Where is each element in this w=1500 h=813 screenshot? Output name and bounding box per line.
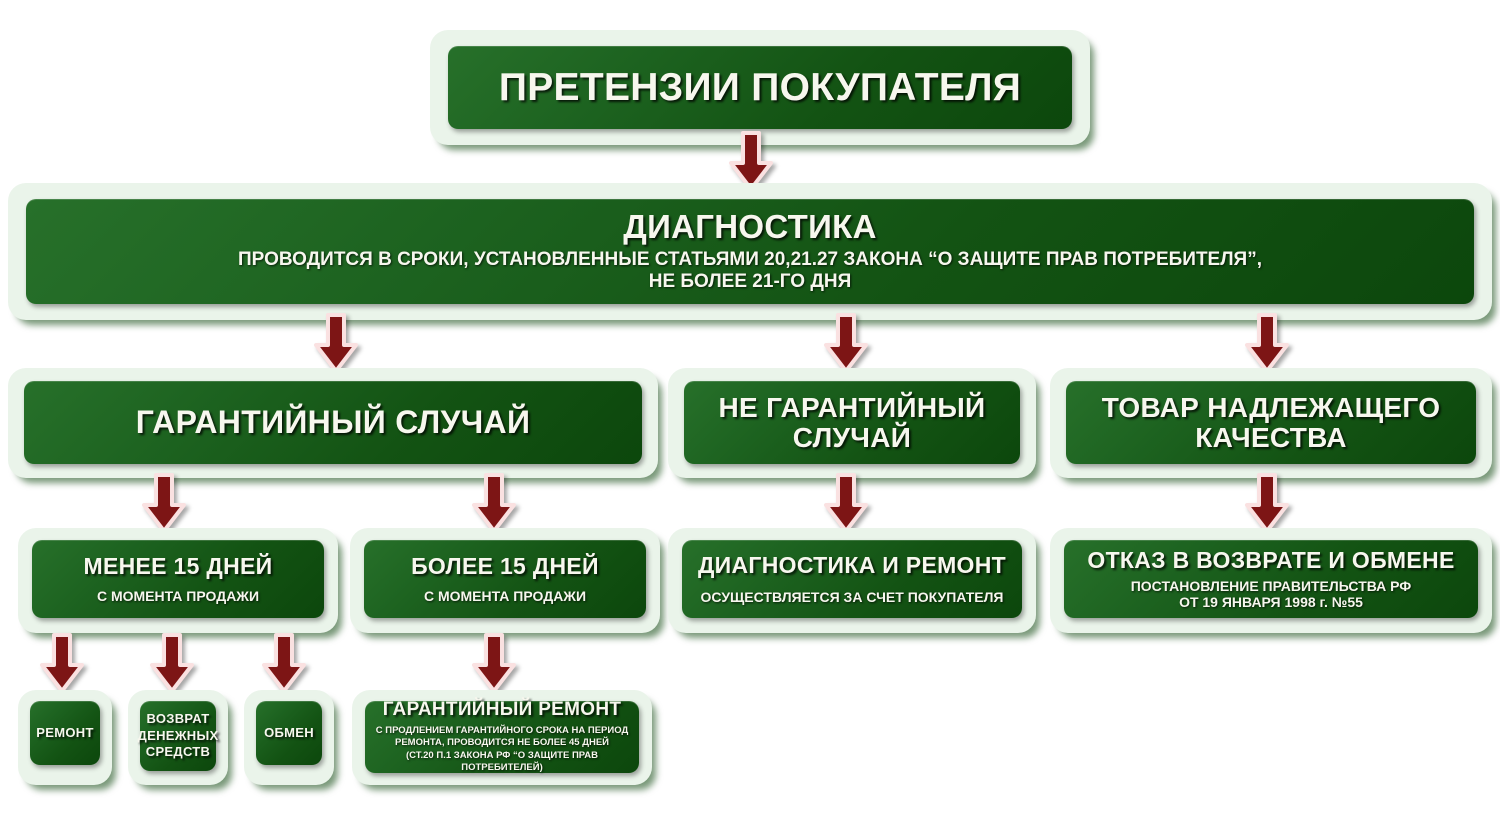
node-repair-title: РЕМОНТ	[36, 726, 93, 740]
node-proper-quality-title: ТОВАР НАДЛЕЖАЩЕГО КАЧЕСТВА	[1102, 393, 1441, 452]
more-15-days-card: БОЛЕЕ 15 ДНЕЙ С МОМЕНТА ПРОДАЖИ	[350, 528, 660, 633]
node-no-warranty-case[interactable]: НЕ ГАРАНТИЙНЫЙ СЛУЧАЙ	[684, 381, 1020, 464]
node-exchange[interactable]: ОБМЕН	[256, 701, 322, 765]
node-warranty-repair-title: ГАРАНТИЙНЫЙ РЕМОНТ	[383, 700, 622, 720]
exchange-card: ОБМЕН	[244, 690, 334, 785]
node-warranty-case[interactable]: ГАРАНТИЙНЫЙ СЛУЧАЙ	[24, 381, 642, 464]
arrow-warranty-case-to-less-15-days	[140, 473, 188, 535]
arrow-less-15-days-to-refund	[148, 633, 196, 695]
arrow-proper-quality-to-refusal	[1243, 473, 1291, 535]
refusal-card: ОТКАЗ В ВОЗВРАТЕ И ОБМЕНЕ ПОСТАНОВЛЕНИЕ …	[1050, 528, 1492, 633]
warranty-repair-card: ГАРАНТИЙНЫЙ РЕМОНТ С ПРОДЛЕНИЕМ ГАРАНТИЙ…	[352, 690, 652, 785]
node-diag-and-repair-title: ДИАГНОСТИКА И РЕМОНТ	[698, 553, 1006, 577]
node-diagnostics[interactable]: ДИАГНОСТИКА ПРОВОДИТСЯ В СРОКИ, УСТАНОВЛ…	[26, 199, 1474, 304]
proper-quality-card: ТОВАР НАДЛЕЖАЩЕГО КАЧЕСТВА	[1050, 368, 1492, 478]
arrow-less-15-days-to-exchange	[260, 633, 308, 695]
node-diag-and-repair-sub: ОСУЩЕСТВЛЯЕТСЯ ЗА СЧЕТ ПОКУПАТЕЛЯ	[701, 589, 1004, 605]
node-claim-title: ПРЕТЕНЗИИ ПОКУПАТЕЛЯ	[499, 67, 1021, 108]
node-exchange-title: ОБМЕН	[264, 726, 314, 740]
claim-card: ПРЕТЕНЗИИ ПОКУПАТЕЛЯ	[430, 30, 1090, 145]
node-proper-quality[interactable]: ТОВАР НАДЛЕЖАЩЕГО КАЧЕСТВА	[1066, 381, 1476, 464]
node-diag-and-repair[interactable]: ДИАГНОСТИКА И РЕМОНТ ОСУЩЕСТВЛЯЕТСЯ ЗА С…	[682, 540, 1022, 618]
less-15-days-card: МЕНЕЕ 15 ДНЕЙ С МОМЕНТА ПРОДАЖИ	[18, 528, 338, 633]
node-less-15-days-sub: С МОМЕНТА ПРОДАЖИ	[97, 588, 259, 604]
node-warranty-repair-sub: С ПРОДЛЕНИЕМ ГАРАНТИЙНОГО СРОКА НА ПЕРИО…	[375, 725, 629, 774]
node-refusal-sub: ПОСТАНОВЛЕНИЕ ПРАВИТЕЛЬСТВА РФ ОТ 19 ЯНВ…	[1131, 578, 1412, 610]
node-repair[interactable]: РЕМОНТ	[30, 701, 100, 765]
arrow-less-15-days-to-repair	[38, 633, 86, 695]
node-refund[interactable]: ВОЗВРАТ ДЕНЕЖНЫХ СРЕДСТВ	[140, 701, 216, 771]
diag-and-repair-card: ДИАГНОСТИКА И РЕМОНТ ОСУЩЕСТВЛЯЕТСЯ ЗА С…	[668, 528, 1036, 633]
arrow-more-15-days-to-warranty-repair	[470, 633, 518, 695]
node-warranty-repair[interactable]: ГАРАНТИЙНЫЙ РЕМОНТ С ПРОДЛЕНИЕМ ГАРАНТИЙ…	[365, 701, 639, 773]
arrow-diagnostics-to-warranty-case	[312, 313, 360, 375]
node-refusal-title: ОТКАЗ В ВОЗВРАТЕ И ОБМЕНЕ	[1087, 548, 1454, 572]
node-more-15-days[interactable]: БОЛЕЕ 15 ДНЕЙ С МОМЕНТА ПРОДАЖИ	[364, 540, 646, 618]
node-less-15-days[interactable]: МЕНЕЕ 15 ДНЕЙ С МОМЕНТА ПРОДАЖИ	[32, 540, 324, 618]
no-warranty-case-card: НЕ ГАРАНТИЙНЫЙ СЛУЧАЙ	[668, 368, 1036, 478]
arrow-warranty-case-to-more-15-days	[470, 473, 518, 535]
node-less-15-days-title: МЕНЕЕ 15 ДНЕЙ	[84, 554, 273, 578]
node-more-15-days-sub: С МОМЕНТА ПРОДАЖИ	[424, 588, 586, 604]
arrow-diagnostics-to-no-warranty-case	[822, 313, 870, 375]
repair-card: РЕМОНТ	[18, 690, 112, 785]
node-no-warranty-case-title: НЕ ГАРАНТИЙНЫЙ СЛУЧАЙ	[719, 393, 986, 452]
node-diagnostics-sub: ПРОВОДИТСЯ В СРОКИ, УСТАНОВЛЕННЫЕ СТАТЬЯ…	[238, 249, 1262, 293]
refund-card: ВОЗВРАТ ДЕНЕЖНЫХ СРЕДСТВ	[128, 690, 228, 785]
warranty-case-card: ГАРАНТИЙНЫЙ СЛУЧАЙ	[8, 368, 658, 478]
diagnostics-card: ДИАГНОСТИКА ПРОВОДИТСЯ В СРОКИ, УСТАНОВЛ…	[8, 183, 1492, 320]
node-more-15-days-title: БОЛЕЕ 15 ДНЕЙ	[411, 554, 599, 578]
node-refund-title: ВОЗВРАТ ДЕНЕЖНЫХ СРЕДСТВ	[138, 711, 219, 762]
node-claim[interactable]: ПРЕТЕНЗИИ ПОКУПАТЕЛЯ	[448, 46, 1072, 129]
arrow-diagnostics-to-proper-quality	[1243, 313, 1291, 375]
arrow-no-warranty-case-to-diag-and-repair	[822, 473, 870, 535]
node-diagnostics-title: ДИАГНОСТИКА	[623, 210, 876, 245]
node-warranty-case-title: ГАРАНТИЙНЫЙ СЛУЧАЙ	[136, 406, 531, 440]
node-refusal[interactable]: ОТКАЗ В ВОЗВРАТЕ И ОБМЕНЕ ПОСТАНОВЛЕНИЕ …	[1064, 540, 1478, 618]
